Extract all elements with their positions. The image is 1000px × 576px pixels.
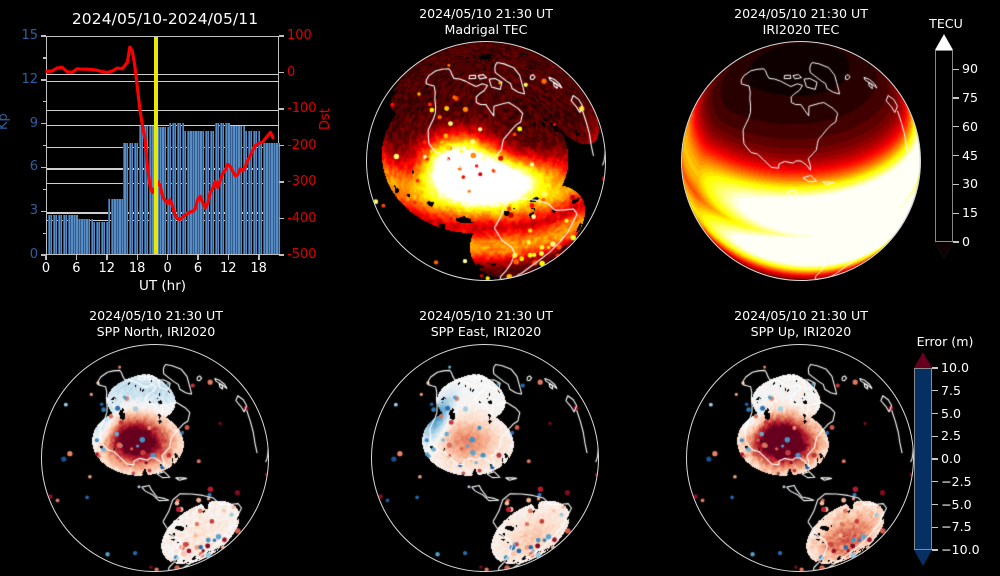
kp-tick-mark bbox=[41, 123, 46, 125]
colorbar-error-gradient bbox=[914, 368, 932, 550]
x-tick-mark bbox=[258, 255, 260, 260]
colorbar-tick-mark bbox=[932, 413, 938, 414]
x-tick-mark bbox=[106, 255, 108, 260]
kp-minor-tick-mark bbox=[43, 57, 46, 58]
ut-axis-label: UT (hr) bbox=[46, 278, 279, 294]
x-tick-mark bbox=[45, 255, 47, 260]
x-tick-mark bbox=[137, 255, 139, 260]
colorbar-tick-label: −5.0 bbox=[941, 497, 972, 512]
globe-title-line2: SPP East, IRI2020 bbox=[336, 324, 636, 340]
x-tick-mark bbox=[228, 255, 230, 260]
globe-title-iri2020-tec: 2024/05/10 21:30 UT IRI2020 TEC bbox=[666, 6, 936, 37]
colorbar-tick-mark bbox=[932, 390, 938, 391]
colorbar-tick-label: 7.5 bbox=[941, 383, 961, 398]
colorbar-tick-label: 2.5 bbox=[941, 428, 961, 443]
dst-tick-mark bbox=[279, 254, 284, 256]
colorbar-tick-mark bbox=[932, 436, 938, 437]
kp-minor-tick-mark bbox=[43, 101, 46, 102]
globe-panel-spp-east: 2024/05/10 21:30 UT SPP East, IRI2020 bbox=[336, 302, 636, 576]
globe-title-madrigal-tec: 2024/05/10 21:30 UT Madrigal TEC bbox=[336, 6, 636, 37]
globe-title-line2: SPP North, IRI2020 bbox=[6, 324, 306, 340]
colorbar-tick-label: 75 bbox=[962, 90, 978, 105]
colorbar-tick-mark bbox=[953, 184, 959, 185]
kp-tick-mark bbox=[41, 211, 46, 213]
globe-title-line2: SPP Up, IRI2020 bbox=[666, 324, 936, 340]
kp-tick-label: 0 bbox=[2, 247, 38, 262]
globe-title-line2: IRI2020 TEC bbox=[666, 22, 936, 38]
kp-tick-label: 3 bbox=[2, 203, 38, 218]
colorbar-tick-label: 10.0 bbox=[941, 360, 969, 375]
colorbar-error: Error (m) 10.07.55.02.50.0−2.5−5.0−7.5−1… bbox=[900, 302, 1000, 576]
dst-tick-label: -100 bbox=[287, 101, 317, 116]
colorbar-tick-label: −2.5 bbox=[941, 474, 972, 489]
colorbar-tick-label: 0 bbox=[962, 234, 970, 249]
dst-tick-label: -200 bbox=[287, 138, 317, 153]
kp-bar bbox=[278, 143, 280, 254]
globe-canvas bbox=[681, 41, 921, 281]
colorbar-tick-label: 45 bbox=[962, 148, 978, 163]
colorbar-tick-label: 60 bbox=[962, 119, 978, 134]
dst-tick-label: 100 bbox=[287, 28, 312, 43]
globe-canvas bbox=[41, 344, 269, 572]
colorbar-tick-mark bbox=[953, 241, 959, 242]
colorbar-tecu: TECU 9075604530150 bbox=[910, 0, 1000, 300]
kp-panel-title: 2024/05/10-2024/05/11 bbox=[0, 10, 330, 28]
globe-panel-spp-up: 2024/05/10 21:30 UT SPP Up, IRI2020 bbox=[666, 302, 936, 576]
colorbar-tick-mark bbox=[953, 69, 959, 70]
globe-title-line1: 2024/05/10 21:30 UT bbox=[336, 6, 636, 22]
x-tick-mark bbox=[167, 255, 169, 260]
dst-tick-mark bbox=[279, 72, 284, 74]
current-time-marker bbox=[154, 37, 157, 254]
dst-tick-label: -500 bbox=[287, 247, 317, 262]
kp-minor-tick-mark bbox=[43, 233, 46, 234]
dst-tick-label: -400 bbox=[287, 211, 317, 226]
dst-line bbox=[47, 37, 278, 254]
colorbar-tick-mark bbox=[953, 155, 959, 156]
kp-tick-mark bbox=[41, 167, 46, 169]
colorbar-error-extend-bottom bbox=[914, 550, 932, 566]
colorbar-tick-mark bbox=[953, 213, 959, 214]
kp-tick-label: 6 bbox=[2, 159, 38, 174]
colorbar-tick-mark bbox=[932, 504, 938, 505]
colorbar-tick-label: 0.0 bbox=[941, 451, 961, 466]
colorbar-tick-label: 30 bbox=[962, 176, 978, 191]
colorbar-tick-label: −10.0 bbox=[941, 542, 980, 557]
kp-tick-label: 12 bbox=[2, 72, 38, 87]
globe-title-spp-north: 2024/05/10 21:30 UT SPP North, IRI2020 bbox=[6, 308, 306, 339]
colorbar-tick-mark bbox=[953, 97, 959, 98]
dst-tick-mark bbox=[279, 145, 284, 147]
globe-canvas bbox=[686, 344, 914, 572]
x-tick-label: 18 bbox=[239, 261, 279, 276]
kp-tick-label: 9 bbox=[2, 116, 38, 131]
x-tick-mark bbox=[197, 255, 199, 260]
dst-tick-mark bbox=[279, 218, 284, 220]
globe-canvas bbox=[371, 344, 599, 572]
colorbar-tick-mark bbox=[932, 549, 938, 550]
globe-canvas bbox=[366, 41, 606, 281]
colorbar-tick-mark bbox=[953, 126, 959, 127]
colorbar-tecu-extend-top bbox=[935, 34, 953, 50]
globe-title-line1: 2024/05/10 21:30 UT bbox=[666, 6, 936, 22]
globe-panel-madrigal-tec: 2024/05/10 21:30 UT Madrigal TEC bbox=[336, 0, 636, 300]
dst-tick-mark bbox=[279, 108, 284, 110]
kp-dst-panel: 2024/05/10-2024/05/11 Kp Dst UT (hr) 036… bbox=[0, 0, 330, 300]
globe-title-line1: 2024/05/10 21:30 UT bbox=[6, 308, 306, 324]
colorbar-tick-mark bbox=[932, 458, 938, 459]
dst-tick-label: 0 bbox=[287, 65, 295, 80]
x-tick-mark bbox=[76, 255, 78, 260]
colorbar-tick-label: −7.5 bbox=[941, 519, 972, 534]
globe-panel-spp-north: 2024/05/10 21:30 UT SPP North, IRI2020 bbox=[6, 302, 306, 576]
dst-tick-mark bbox=[279, 181, 284, 183]
globe-title-spp-east: 2024/05/10 21:30 UT SPP East, IRI2020 bbox=[336, 308, 636, 339]
colorbar-tick-mark bbox=[932, 481, 938, 482]
figure-canvas: 2024/05/10-2024/05/11 Kp Dst UT (hr) 036… bbox=[0, 0, 1000, 576]
colorbar-tick-label: 90 bbox=[962, 61, 978, 76]
kp-minor-tick-mark bbox=[43, 145, 46, 146]
colorbar-tecu-extend-bottom bbox=[935, 242, 953, 258]
globe-panel-iri2020-tec: 2024/05/10 21:30 UT IRI2020 TEC bbox=[666, 0, 936, 300]
colorbar-error-extend-top bbox=[914, 352, 932, 368]
colorbar-tick-label: 15 bbox=[962, 205, 978, 220]
globe-madrigal-tec bbox=[366, 41, 606, 281]
globe-spp-north bbox=[41, 344, 269, 572]
globe-title-line1: 2024/05/10 21:30 UT bbox=[336, 308, 636, 324]
dst-tick-label: -300 bbox=[287, 174, 317, 189]
dst-tick-mark bbox=[279, 35, 284, 37]
colorbar-tecu-title: TECU bbox=[910, 16, 982, 31]
kp-tick-mark bbox=[41, 79, 46, 81]
kp-plot-area bbox=[46, 36, 279, 255]
colorbar-tick-label: 5.0 bbox=[941, 406, 961, 421]
kp-minor-tick-mark bbox=[43, 189, 46, 190]
kp-tick-mark bbox=[41, 35, 46, 37]
dst-axis-label: Dst bbox=[318, 108, 333, 130]
globe-spp-east bbox=[371, 344, 599, 572]
globe-title-line2: Madrigal TEC bbox=[336, 22, 636, 38]
globe-title-line1: 2024/05/10 21:30 UT bbox=[666, 308, 936, 324]
colorbar-tecu-gradient bbox=[935, 50, 953, 242]
globe-spp-up bbox=[686, 344, 914, 572]
globe-iri2020-tec bbox=[681, 41, 921, 281]
globe-title-spp-up: 2024/05/10 21:30 UT SPP Up, IRI2020 bbox=[666, 308, 936, 339]
colorbar-tick-mark bbox=[932, 527, 938, 528]
colorbar-error-title: Error (m) bbox=[900, 334, 990, 349]
colorbar-tick-mark bbox=[932, 367, 938, 368]
kp-tick-label: 15 bbox=[2, 28, 38, 43]
